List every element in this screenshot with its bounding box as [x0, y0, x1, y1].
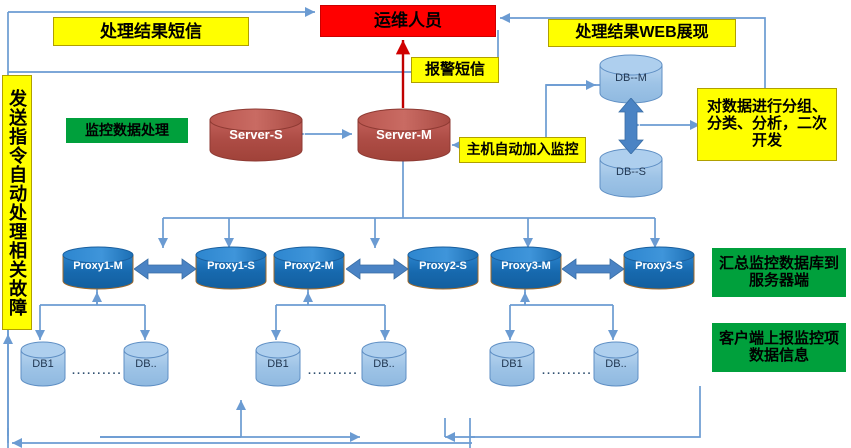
note-send-command-vertical: 发送指令自动处理相关故障	[2, 75, 32, 330]
node-proxy1-m[interactable]: Proxy1-M	[61, 246, 135, 290]
node-proxy3-m[interactable]: Proxy3-M	[489, 246, 563, 290]
node-server-s[interactable]: Server-S	[208, 107, 304, 163]
node-db-g3-last[interactable]: DB..	[592, 340, 640, 388]
node-db-m[interactable]: DB--M	[598, 54, 664, 104]
node-db-g1-last[interactable]: DB..	[122, 340, 170, 388]
db-sync-arrow-icon	[618, 98, 644, 154]
node-proxy1-s[interactable]: Proxy1-S	[194, 246, 268, 290]
node-db-g1-first[interactable]: DB1	[19, 340, 67, 388]
note-client-report: 客户端上报监控项数据信息	[712, 323, 846, 372]
note-web-result: 处理结果WEB展现	[548, 19, 736, 47]
node-proxy2-s[interactable]: Proxy2-S	[406, 246, 480, 290]
note-auto-join-monitor: 主机自动加入监控	[459, 137, 586, 163]
node-db-s[interactable]: DB--S	[598, 148, 664, 198]
node-db-g2-first[interactable]: DB1	[254, 340, 302, 388]
note-sms-result: 处理结果短信	[53, 17, 249, 46]
node-db-g3-first[interactable]: DB1	[488, 340, 536, 388]
note-monitor-data-process: 监控数据处理	[66, 118, 188, 143]
node-db-g2-last[interactable]: DB..	[360, 340, 408, 388]
db-ellipsis-g2: ..........	[308, 365, 359, 377]
note-alarm-sms: 报警短信	[411, 57, 499, 83]
db-ellipsis-g3: ..........	[542, 365, 593, 377]
db-ellipsis-g1: ..........	[72, 365, 123, 377]
note-data-analysis: 对数据进行分组、分类、分析，二次开发	[697, 88, 837, 161]
node-proxy2-m[interactable]: Proxy2-M	[272, 246, 346, 290]
proxy3-sync-arrow-icon	[562, 258, 624, 280]
node-server-m[interactable]: Server-M	[356, 107, 452, 163]
architecture-diagram: Server-S Server-M DB--M DB--S Pro	[0, 0, 851, 448]
proxy2-sync-arrow-icon	[346, 258, 408, 280]
note-aggregate-db: 汇总监控数据库到服务器端	[712, 248, 846, 297]
note-ops-staff: 运维人员	[320, 5, 496, 37]
proxy1-sync-arrow-icon	[134, 258, 196, 280]
node-proxy3-s[interactable]: Proxy3-S	[622, 246, 696, 290]
